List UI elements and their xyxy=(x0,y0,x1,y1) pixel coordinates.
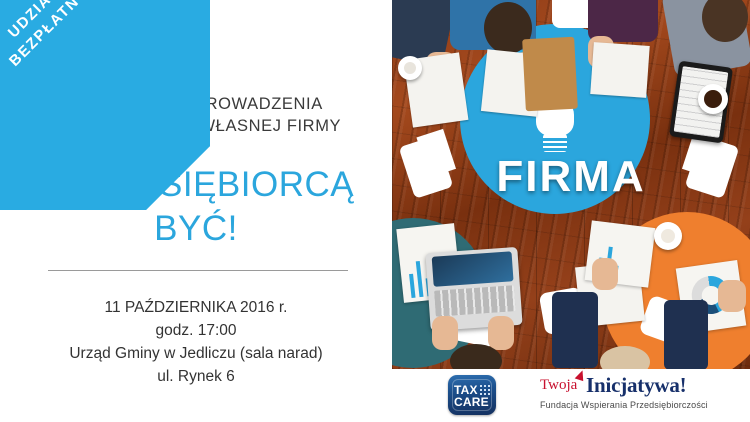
headline-line-2: BYĆ! xyxy=(0,207,392,251)
person-bottom-left-hand-b xyxy=(488,316,514,350)
person-bottom-center-sleeve xyxy=(552,292,598,368)
person-bottom-right-sleeve xyxy=(664,300,708,369)
document-top-right xyxy=(590,42,649,98)
person-bottom-left-hand-a xyxy=(432,316,458,350)
cup-top-left xyxy=(398,56,422,80)
person-bottom-center-hand xyxy=(592,258,618,290)
event-address: ul. Rynek 6 xyxy=(0,365,392,388)
team-meeting-photo: FIRMA xyxy=(392,0,750,369)
firma-overlay-text: FIRMA xyxy=(392,152,750,202)
free-participation-ribbon: UDZIAŁ BEZPŁATNY xyxy=(0,0,210,210)
event-time: godz. 17:00 xyxy=(0,319,392,342)
coffee-cup-top xyxy=(698,84,728,114)
folder-top-center xyxy=(522,37,578,112)
twoja-inicjatywa-logo: Twoja Inicjatywa! Fundacja Wspierania Pr… xyxy=(540,373,740,397)
inicjatywa-wordmark: Inicjatywa! xyxy=(586,373,686,398)
section-divider xyxy=(48,270,348,271)
event-date: 11 PAŹDZIERNIKA 2016 r. xyxy=(0,296,392,319)
taxcare-logo-line-2: CARE xyxy=(454,396,489,408)
person-bottom-right-hand xyxy=(718,280,746,312)
event-venue: Urząd Gminy w Jedliczu (sala narad) xyxy=(0,342,392,365)
inicjatywa-tagline: Fundacja Wspierania Przedsiębiorczości xyxy=(540,400,708,410)
sponsor-logo-bar: TAX CARE Twoja Inicjatywa! Fundacja Wspi… xyxy=(392,369,750,422)
taxcare-logo: TAX CARE xyxy=(448,375,496,415)
inicjatywa-prefix: Twoja xyxy=(540,377,577,394)
taxcare-dot-grid-icon xyxy=(479,384,490,395)
promotional-poster: WARSZTATY Z PROWADZENIA I FINANSOWANIA W… xyxy=(0,0,750,422)
cup-bottom-right xyxy=(654,222,682,250)
event-details: 11 PAŹDZIERNIKA 2016 r. godz. 17:00 Urzą… xyxy=(0,296,392,388)
